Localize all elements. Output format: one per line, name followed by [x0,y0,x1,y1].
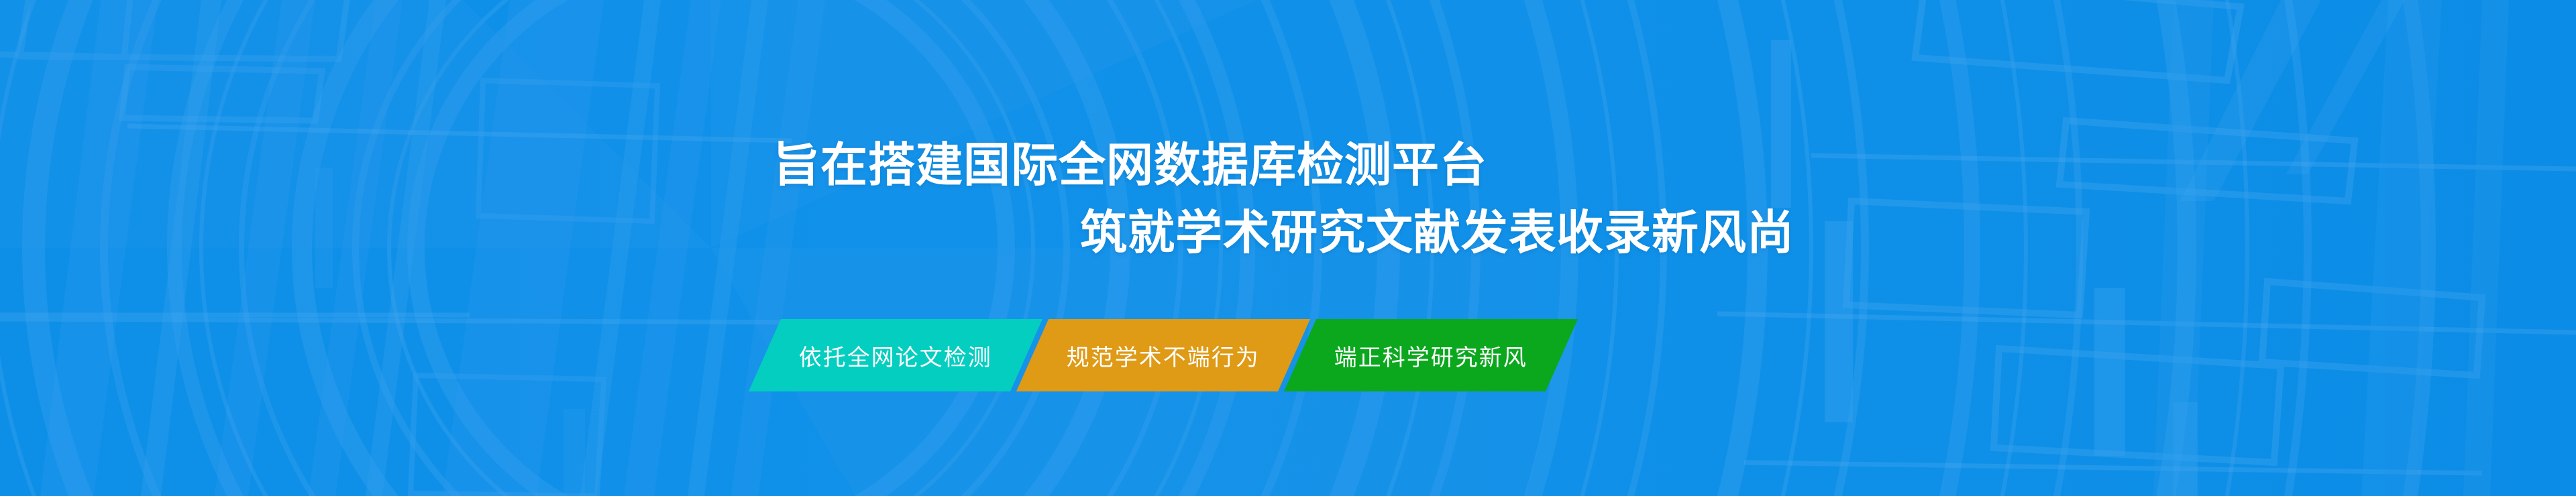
feature-badge-strip: 依托全网论文检测 规范学术不端行为 端正科学研究新风 [765,319,1562,391]
background-pattern [0,0,2576,496]
badge-plagiarism-detection[interactable]: 依托全网论文检测 [749,319,1042,391]
badge-plagiarism-detection-label: 依托全网论文检测 [794,339,998,372]
hero-banner: 旨在搭建国际全网数据库检测平台 筑就学术研究文献发表收录新风尚 依托全网论文检测… [0,0,2576,496]
badge-academic-misconduct[interactable]: 规范学术不端行为 [1016,319,1310,391]
badge-academic-misconduct-label: 规范学术不端行为 [1061,339,1265,372]
badge-research-ethics-label: 端正科学研究新风 [1329,339,1533,372]
background-pattern-svg [0,0,2576,496]
badge-research-ethics[interactable]: 端正科学研究新风 [1284,319,1578,391]
